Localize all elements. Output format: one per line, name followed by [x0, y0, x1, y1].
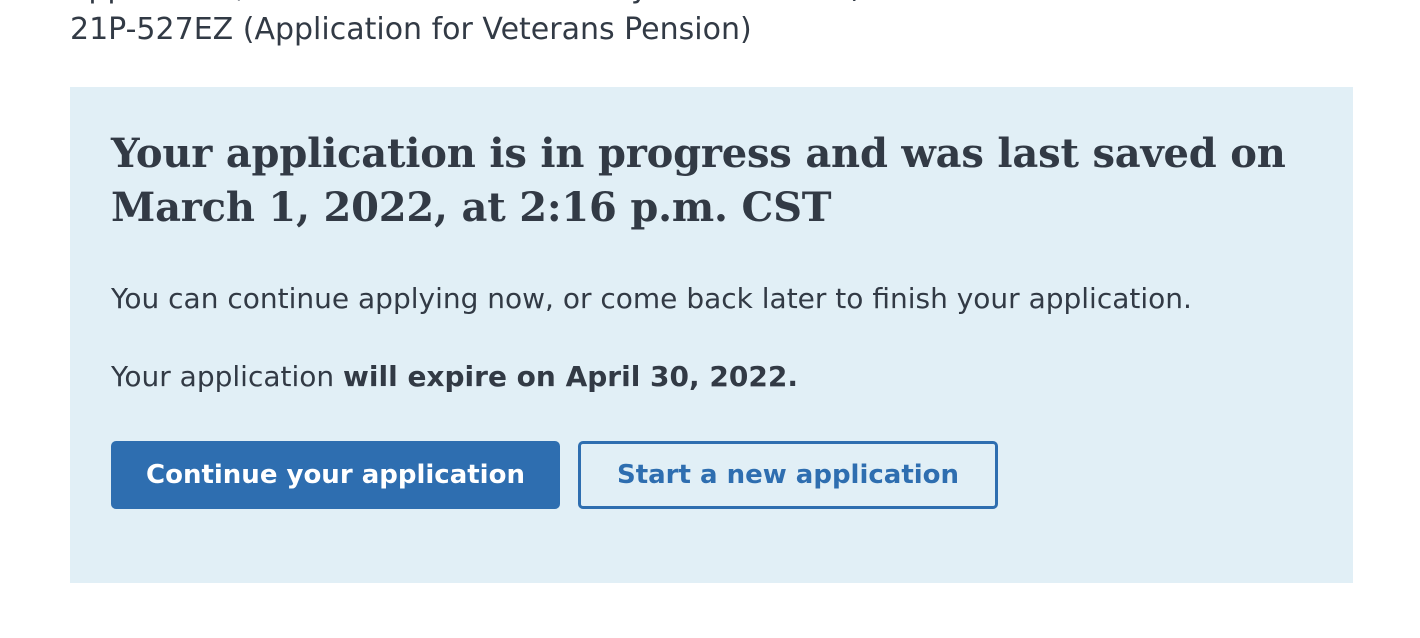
alert-heading: Your application is in progress and was … [111, 127, 1311, 235]
continue-application-button[interactable]: Continue your application [111, 441, 560, 509]
form-name-text: 21P-527EZ (Application for Veterans Pens… [70, 8, 752, 52]
page-root: application, we'll save it as a draft in… [0, 0, 1420, 638]
expiration-prefix-text: Your application [111, 360, 343, 393]
expiration-emphasis-text: will expire on April 30, 2022. [343, 360, 798, 393]
alert-expiration-paragraph: Your application will expire on April 30… [111, 357, 1311, 397]
alert-button-row: Continue your application Start a new ap… [111, 441, 1311, 509]
alert-body-paragraph: You can continue applying now, or come b… [111, 279, 1311, 319]
saved-application-alert: Your application is in progress and was … [70, 87, 1353, 583]
start-new-application-button[interactable]: Start a new application [578, 441, 998, 509]
